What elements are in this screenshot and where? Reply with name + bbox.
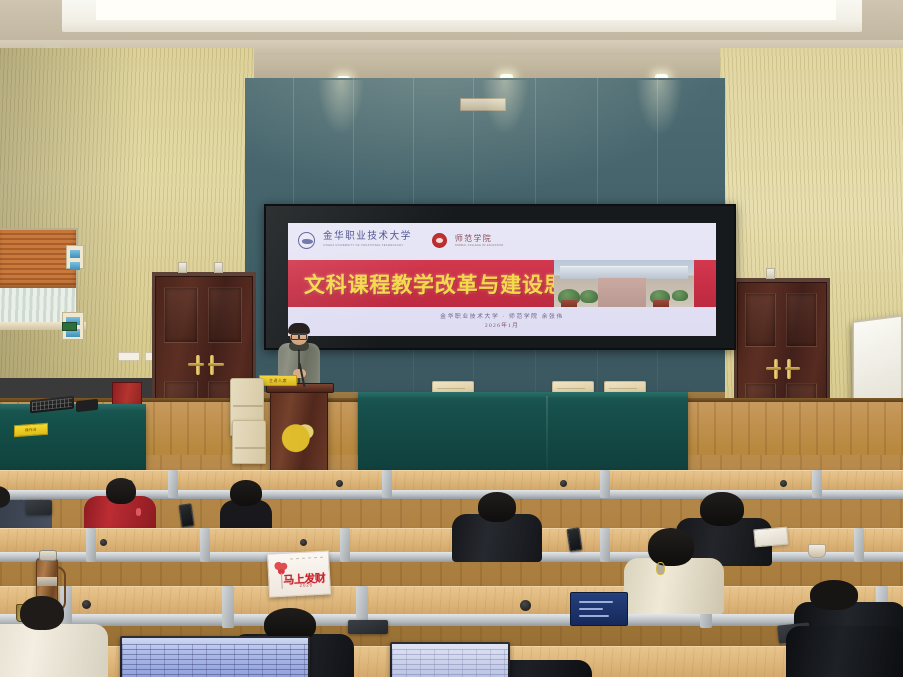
slide-logo-primary-cn: 金华职业技术大学 xyxy=(323,232,412,244)
desk-row-c-rail xyxy=(0,614,903,626)
slide-title: 文科课程教学改革与建设思路 xyxy=(304,269,587,299)
university-logo-icon xyxy=(298,232,315,249)
thermos-cap xyxy=(39,550,57,561)
slide-logo-secondary-cn: 师范学院 xyxy=(455,234,504,244)
desk-divider-a3 xyxy=(600,470,610,498)
laptop-foreground[interactable] xyxy=(120,636,310,677)
hair-clip xyxy=(656,562,665,575)
podium-name-plate: 主讲人席 xyxy=(259,375,297,386)
desk-divider-b1 xyxy=(86,528,96,562)
glasses-icon xyxy=(291,333,307,337)
laptop-screen xyxy=(122,638,308,677)
dark-item-foreground xyxy=(348,620,388,634)
list-item xyxy=(220,480,272,532)
desk-hole-b2 xyxy=(300,539,307,546)
thermos-band xyxy=(37,577,57,586)
dark-device-a xyxy=(26,500,52,515)
wall-placard-2 xyxy=(66,245,84,269)
desk-hole-a4 xyxy=(780,480,787,487)
desk-divider-a1 xyxy=(168,470,178,498)
slide-logo-row: 金华职业技术大学 JINHUA UNIVERSITY OF VOCATIONAL… xyxy=(298,229,706,251)
slide-logo-primary-en: JINHUA UNIVERSITY OF VOCATIONAL TECHNOLO… xyxy=(323,244,412,247)
laptop-screen-2 xyxy=(392,644,508,677)
list-item xyxy=(0,600,108,677)
college-logo-icon xyxy=(432,233,447,248)
mousepad xyxy=(76,399,98,412)
desk-hole-a2 xyxy=(336,480,343,487)
head-table xyxy=(358,392,688,474)
desk-divider-b2 xyxy=(200,528,210,562)
vape-device xyxy=(136,508,141,516)
light-glow-2 xyxy=(482,80,528,134)
ceiling-recess-inner xyxy=(96,0,836,20)
desk-divider-a2 xyxy=(382,470,392,498)
blinds-icon xyxy=(0,230,76,288)
list-item xyxy=(624,528,724,608)
desk-divider-b5 xyxy=(600,528,610,562)
slide-subtitle: 金华职业技术大学 · 师范学院 余张伟 xyxy=(288,311,716,320)
slide-title-banner: 文科课程教学改革与建设思路 xyxy=(288,260,716,307)
projection-screen: 金华职业技术大学 JINHUA UNIVERSITY OF VOCATIONAL… xyxy=(264,204,736,350)
podium: 主讲人席 xyxy=(270,390,328,480)
covered-chair-left-2[interactable] xyxy=(232,420,266,464)
desk-divider-b3 xyxy=(340,528,350,562)
desk-calendar: 马上发财 2026 xyxy=(267,550,331,597)
list-item xyxy=(452,492,542,560)
desk-hole-c2 xyxy=(520,600,531,611)
laptop-foreground-2[interactable] xyxy=(390,642,510,677)
cup-white xyxy=(808,544,826,558)
wall-socket-left[interactable] xyxy=(118,352,140,361)
door-left-transom-a xyxy=(178,262,187,273)
door-right-transom xyxy=(766,268,775,279)
slide-campus-photo xyxy=(554,260,694,307)
door-left-transom-b xyxy=(214,262,223,273)
student-red-jacket-head xyxy=(106,478,136,504)
table-name-card: 操作台 xyxy=(14,423,48,437)
desk-divider-a4 xyxy=(812,470,822,498)
podium-emblem xyxy=(279,413,321,455)
list-item xyxy=(786,616,903,677)
desk-hole-a3 xyxy=(560,480,567,487)
desk-divider-b7 xyxy=(854,528,864,562)
light-glow-1 xyxy=(318,80,364,134)
desk-hole-b1 xyxy=(100,539,107,546)
light-glow-3 xyxy=(636,80,682,134)
exit-sign-icon xyxy=(62,322,77,331)
tablet-blue[interactable] xyxy=(570,592,628,626)
lecture-hall-photo: 金华职业技术大学 JINHUA UNIVERSITY OF VOCATIONAL… xyxy=(0,0,903,677)
slide-date: 2026年1月 xyxy=(288,321,716,329)
calendar-year: 2026 xyxy=(299,582,312,588)
presentation-slide: 金华职业技术大学 JINHUA UNIVERSITY OF VOCATIONAL… xyxy=(288,223,716,336)
slide-logo-secondary-en: NORMAL COLLEGE OF EDUCATION xyxy=(455,244,504,247)
notebook-on-desk xyxy=(753,527,788,548)
